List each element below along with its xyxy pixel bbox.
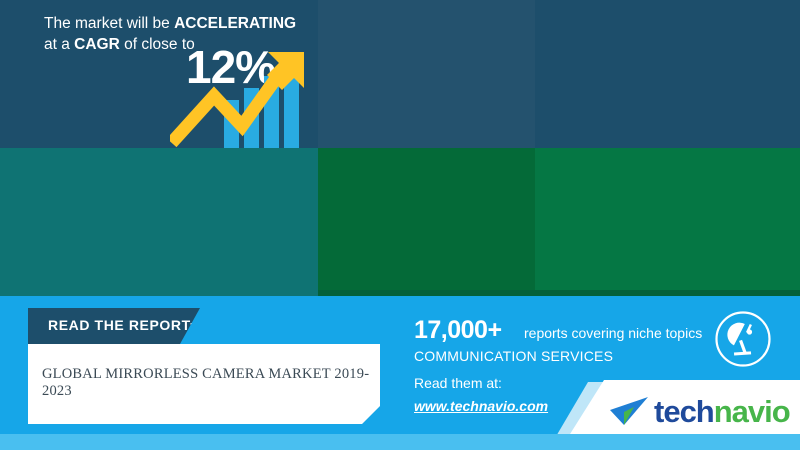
read-them-at-label: Read them at: [414,375,502,391]
paper-plane-icon [608,395,650,429]
logo-text-navio: navio [714,394,790,430]
report-title-card[interactable]: GLOBAL MIRRORLESS CAMERA MARKET 2019-202… [28,344,380,424]
reports-count: 17,000+ [414,316,502,345]
panel-accelerating: The market will be ACCELERATING at a CAG… [0,0,318,148]
logo-text-tech: tech [654,394,714,430]
read-the-report-banner: READ THE REPORT: [28,308,200,344]
technavio-url-link[interactable]: www.technavio.com [414,398,548,414]
technavio-logo: technavio [608,392,790,432]
panel-incremental-growth: INCREMENTAL GROWTH $ 1.82 bn 2018 2023 [318,0,535,148]
satellite-dish-icon [714,310,772,368]
accelerating-line2-b: CAGR [74,36,120,53]
panel-yoy-growth: The year-over-year growth rate for 2019 … [535,0,800,148]
panel-key-drivers: One of the KEY DRIVERS for this market w… [535,148,800,296]
panel-apac-share: 47% of the growth will come from the APA… [318,148,535,296]
reports-count-caption: reports covering niche topics [524,325,702,341]
panel-fragmented: The market is HIGHLY FRAGMENTED with sev… [0,148,318,296]
accelerating-line2-a: at a [44,36,74,53]
accelerating-line1-a: The market will be [44,15,174,32]
bottom-accent-strip [0,434,800,450]
read-the-report-label: READ THE REPORT: [48,317,195,333]
infographic-root: The market will be ACCELERATING at a CAG… [0,0,800,450]
growth-arrow-icon [170,30,318,148]
report-title: GLOBAL MIRRORLESS CAMERA MARKET 2019-202… [42,366,380,400]
report-category: COMMUNICATION SERVICES [414,348,613,364]
